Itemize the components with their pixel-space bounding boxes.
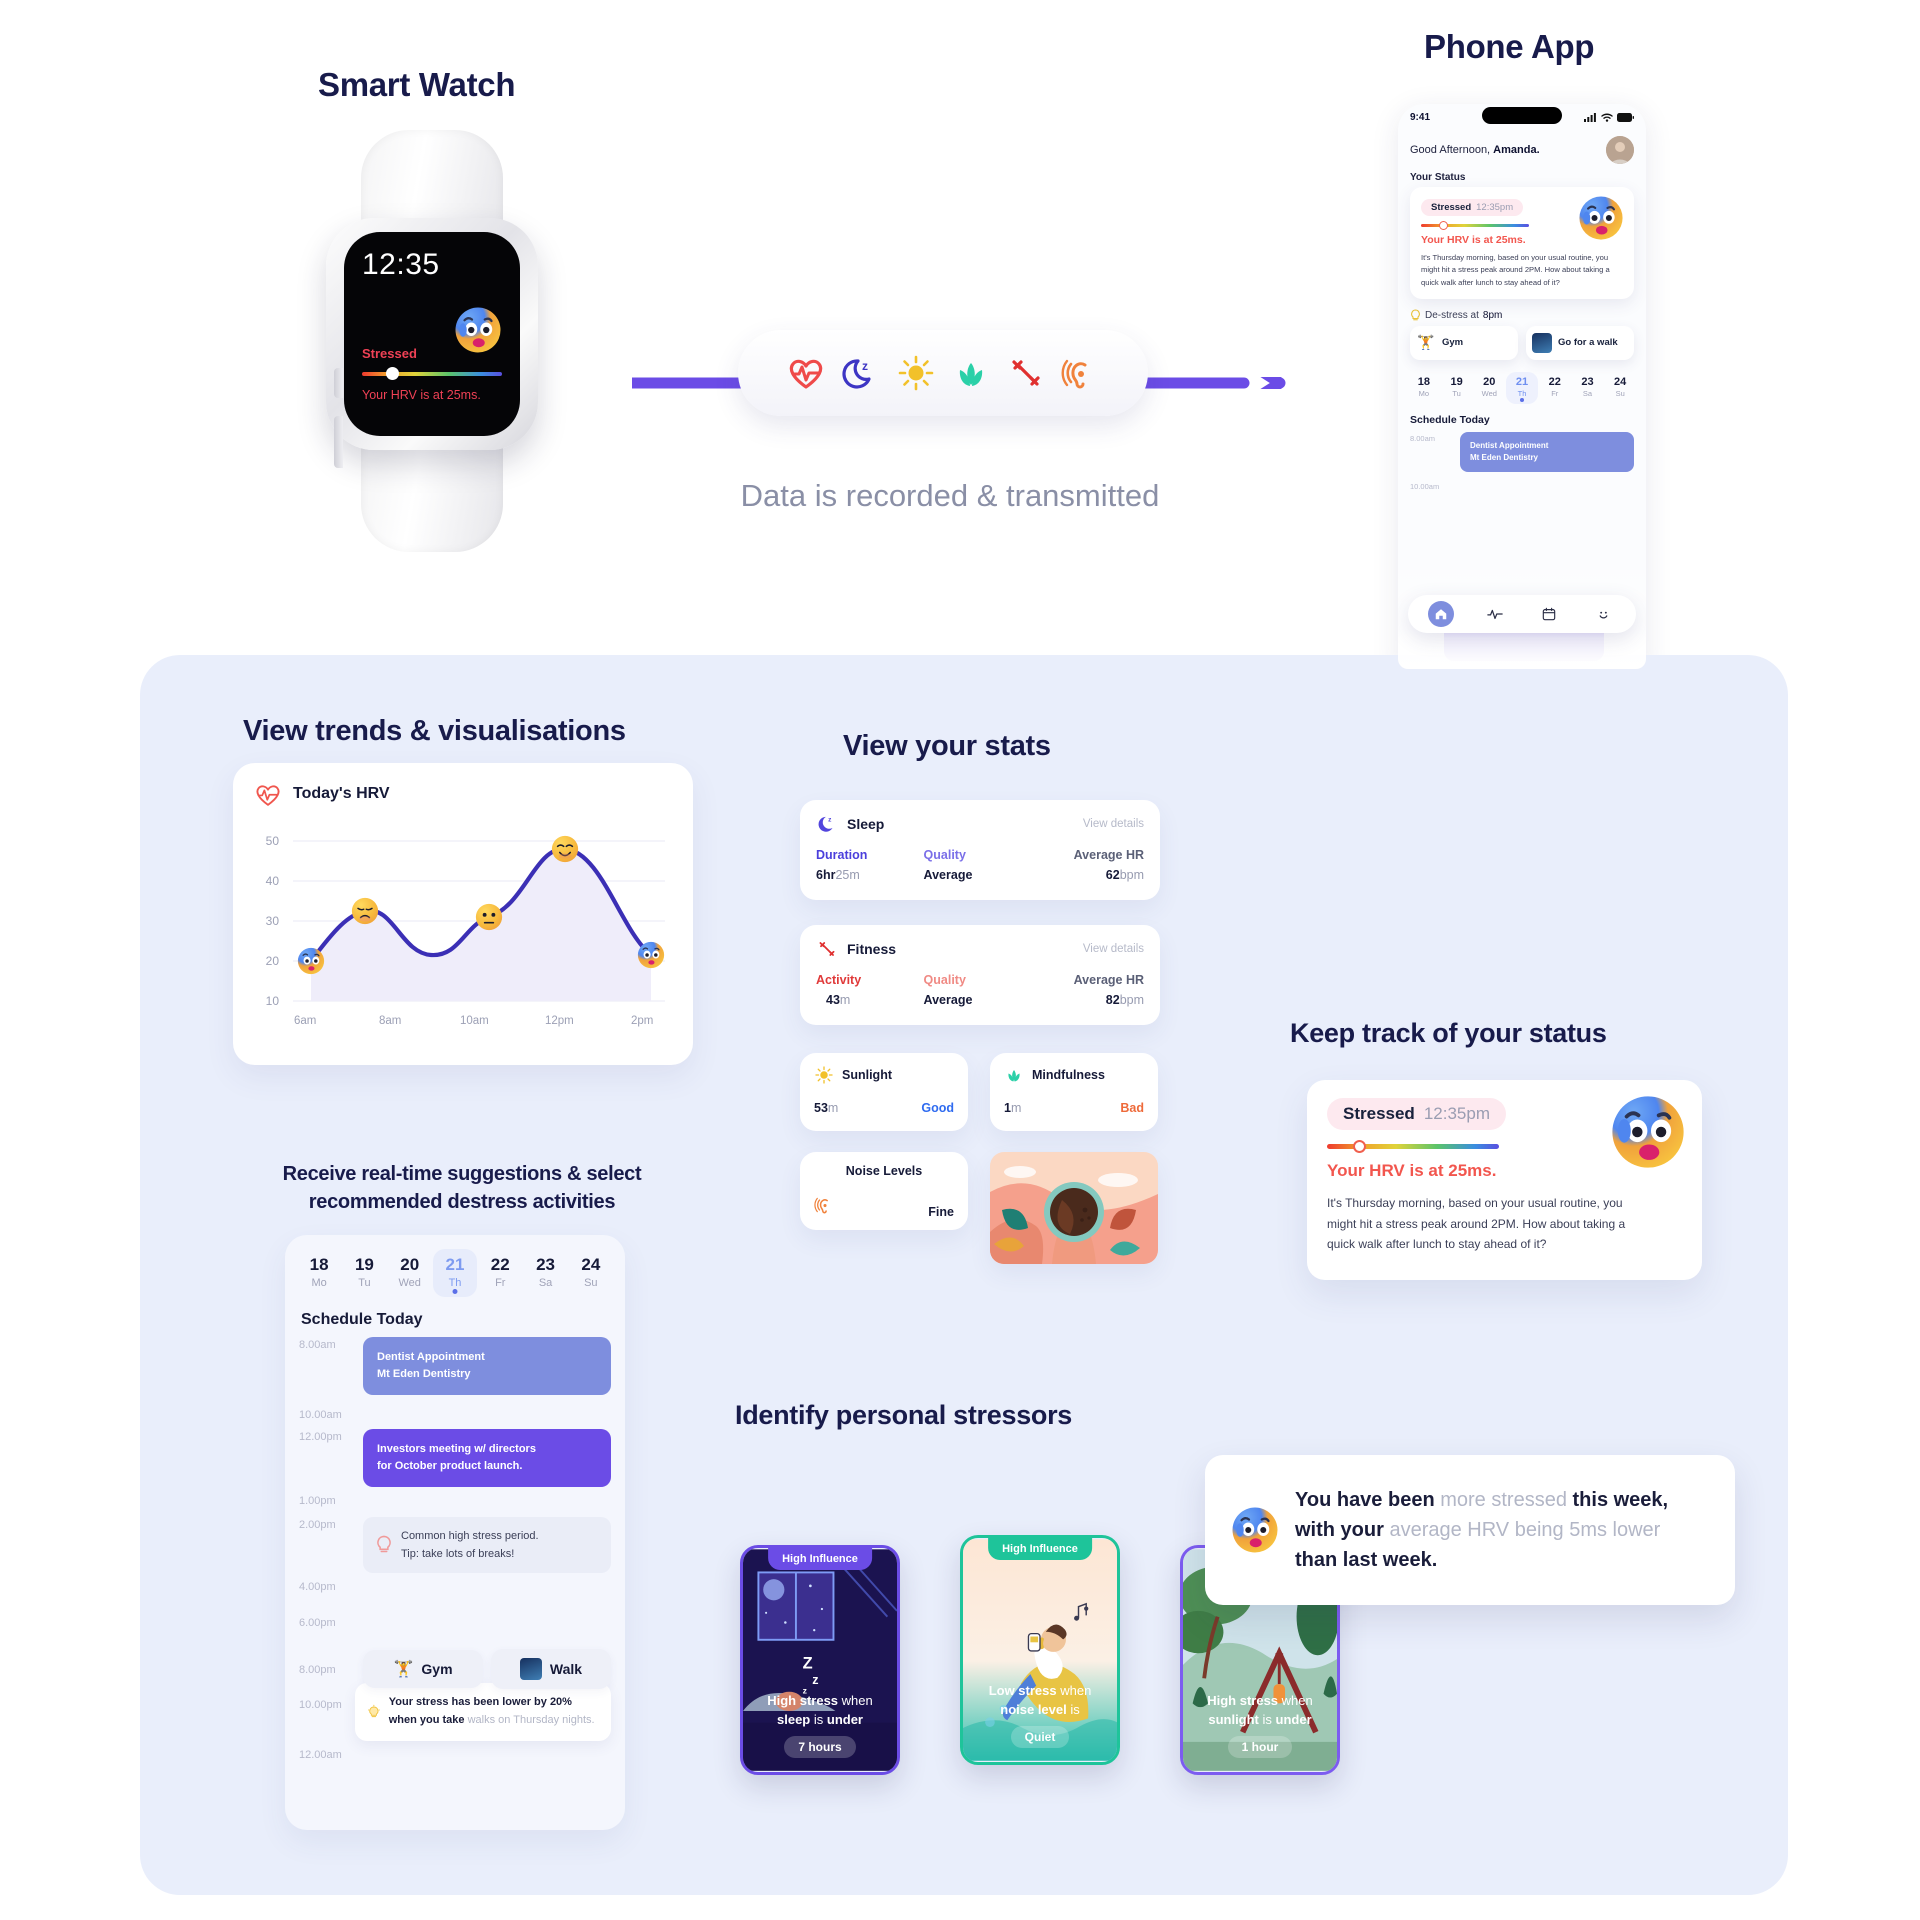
phone-event-title: Dentist Appointment [1470,440,1624,452]
day-cell-18[interactable]: 18 Mo [297,1249,341,1297]
fitness-stat-card[interactable]: Fitness View details Activity 43m Qualit… [800,925,1160,1025]
schedule-row-12am: 12.00am [285,1747,625,1761]
status-stress-knob[interactable] [1353,1140,1366,1153]
schedule-time-10am: 10.00am [299,1407,355,1421]
y-tick-10: 10 [253,994,279,1008]
schedule-row-1pm: 1.00pm [285,1493,625,1507]
svg-text:Z: Z [803,1655,813,1673]
stressor-caption-sleep: High stress when sleep is under 7 hours [743,1692,897,1758]
stressor-pill-sleep: 7 hours [784,1736,855,1758]
watch-stress-slider-track[interactable] [362,372,502,376]
day-number: 19 [342,1255,386,1275]
schedule-action-gym-label: Gym [421,1661,452,1677]
day-weekday: Fr [478,1277,522,1289]
x-tick-12pm: 12pm [545,1015,574,1027]
chart-plot-area: 50 40 30 20 10 6am 8am 10am 12pm 2pm [253,819,673,1045]
s1-rest: when [838,1693,873,1708]
day-weekday: Fr [1539,389,1571,398]
schedule-event1-sub: Mt Eden Dentistry [377,1366,597,1383]
mindfulness-name: Mindfulness [1032,1068,1105,1082]
tab-calendar[interactable] [1536,601,1562,627]
fitness-quality-col: Quality Average [924,973,1037,1007]
sleep-duration-key: Duration [816,848,924,862]
y-tick-30: 30 [253,914,279,928]
sleep-duration-unit: 25m [835,868,859,882]
day-cell-21[interactable]: 21 Th [1506,372,1538,404]
day-number: 21 [1506,376,1538,388]
mindfulness-leaf-icon [948,350,994,396]
mindfulness-amount: 1m [1004,1101,1021,1115]
sleep-hr-key: Average HR [1036,848,1144,862]
phone-mood: Stressed [1431,202,1471,213]
smart-watch-title: Smart Watch [318,66,515,104]
day-cell-20[interactable]: 20 Wed [388,1249,432,1297]
schedule-time-8pm: 8.00pm [299,1662,355,1676]
fitness-hr-key: Average HR [1036,973,1144,987]
day-number: 23 [1572,376,1604,388]
schedule-action-gym[interactable]: 🏋️ Gym [363,1650,483,1688]
day-weekday: Sa [523,1277,567,1289]
sleep-card-name: Sleep [847,816,884,832]
stressor-caption-sunlight: High stress when sunlight is under 1 hou… [1183,1692,1337,1758]
destress-time: 8pm [1483,310,1502,321]
sleep-quality-text: Average [924,868,973,882]
weekly-insight-tooltip: You have been more stressed this week, w… [1205,1455,1735,1605]
mindfulness-leaf-icon [1004,1065,1024,1085]
status-mood-time: 12:35pm [1424,1104,1490,1124]
smiley-icon [1596,607,1611,622]
day-weekday: Su [569,1277,613,1289]
day-cell-20[interactable]: 20 Wed [1473,372,1505,404]
schedule-note-text: Your stress has been lower by 20% when y… [389,1694,598,1729]
day-cell-21[interactable]: 21 Th [433,1249,477,1297]
sleep-card-cols: Duration 6hr25m Quality Average Average … [816,848,1144,882]
y-tick-20: 20 [253,954,279,968]
activity-pulse-icon [1487,607,1503,621]
phone-mood-chip: Stressed 12:35pm [1421,199,1523,216]
s1-bold: High stress [767,1693,838,1708]
home-icon [1434,607,1448,621]
day-active-dot [452,1289,457,1294]
sunlight-values: 53m Good [814,1101,954,1115]
y-tick-40: 40 [253,874,279,888]
y-tick-50: 50 [253,834,279,848]
sunlight-num: 53 [814,1101,828,1115]
phone-schedule-time: 8.00am [1410,432,1452,443]
s1-2b: is [810,1712,827,1727]
ear-noise-icon [1058,350,1104,396]
schedule-row-10am: 10.00am [285,1407,625,1421]
your-status-label: Your Status [1398,164,1646,187]
city-night-thumb [520,1658,542,1680]
x-tick-2pm: 2pm [631,1015,653,1027]
fitness-dumbbell-icon [1003,350,1049,396]
heart-rate-icon [783,350,829,396]
sleep-card-header: z Sleep View details [816,813,1144,835]
sensor-icon-pill: z [738,330,1148,416]
insight-text: You have been more stressed this week, w… [1295,1485,1701,1575]
insight-d: average HRV being 5ms lower [1389,1519,1660,1541]
day-weekday: Tu [342,1277,386,1289]
watch-time: 12:35 [362,248,502,282]
s2-2a: noise level [1000,1702,1066,1717]
stressor-line2-sunlight: sunlight is under [1183,1711,1337,1729]
schedule-time-4pm: 4.00pm [299,1579,355,1593]
stressor-line1-noise: Low stress when [963,1682,1117,1700]
phone-status-bar: 9:41 [1398,104,1646,130]
fitness-card-name: Fitness [847,941,896,957]
mindfulness-quality: Bad [1120,1101,1144,1115]
day-number: 21 [433,1255,477,1275]
phone-destress-row: De-stress at 8pm [1398,299,1646,326]
lightbulb-icon [368,1700,380,1724]
schedule-tip-line1: Common high stress period. [401,1527,539,1545]
sunlight-quality: Good [921,1101,954,1115]
schedule-time-6pm: 6.00pm [299,1615,355,1629]
day-number: 20 [388,1255,432,1275]
greeting-name: Amanda. [1493,144,1539,156]
x-tick-6am: 6am [294,1015,316,1027]
tab-activity[interactable] [1482,601,1508,627]
stressor-card-sleep[interactable]: Z z z High Influence High stress when sl… [740,1545,900,1775]
schedule-insight-note[interactable]: Your stress has been lower by 20% when y… [355,1683,611,1740]
schedule-time-12pm: 12.00pm [299,1429,355,1443]
sleep-duration-value: 6hr25m [816,868,924,882]
noise-values: Fine [814,1194,954,1219]
x-tick-8am: 8am [379,1015,401,1027]
phone-status-body: It's Thursday morning, based on your usu… [1421,252,1623,289]
schedule-row-4pm: 4.00pm [285,1579,625,1593]
phone-event-dentist[interactable]: Dentist Appointment Mt Eden Dentistry [1460,432,1634,472]
s3-2a: sunlight [1208,1712,1259,1727]
cellular-icon [1584,113,1597,122]
ear-noise-icon [814,1194,836,1216]
smart-watch: 12:35 Stressed Your HRV is at 25ms. [312,130,552,550]
fitness-dumbbell-icon [816,938,838,960]
insight-a: You have been [1295,1489,1440,1511]
phone-activity-walk-label: Go for a walk [1558,337,1618,348]
schedule-time-8am: 8.00am [299,1337,355,1351]
noise-quality: Fine [928,1205,954,1219]
schedule-row-8pm: 8.00pm 🏋️ Gym Walk [285,1649,625,1689]
phone-mood-time: 12:35pm [1476,202,1513,213]
fitness-card-cols: Activity 43m Quality Average Average HR … [816,973,1144,1007]
stressor-badge-noise: High Influence [988,1538,1092,1560]
schedule-time-2pm: 2.00pm [299,1517,355,1531]
sun-icon [893,350,939,396]
status-mood: Stressed [1343,1104,1415,1124]
sleep-quality-col: Quality Average [924,848,1037,882]
tab-mood[interactable] [1590,601,1616,627]
schedule-stress-tip[interactable]: Common high stress period. Tip: take lot… [363,1517,611,1573]
stressor-line1-sleep: High stress when [743,1692,897,1710]
day-cell-18[interactable]: 18 Mo [1408,372,1440,404]
day-number: 24 [569,1255,613,1275]
schedule-row-6pm: 6.00pm [285,1615,625,1629]
fitness-quality-key: Quality [924,973,1037,987]
anxious-face-icon [1610,1094,1686,1170]
city-night-thumb [1532,333,1552,353]
note-part-e: Thursday nights. [513,1714,594,1726]
sleep-moon-icon: z [838,350,884,396]
phone-schedule-label: Schedule Today [1398,406,1646,432]
day-number: 20 [1473,376,1505,388]
day-cell-23[interactable]: 23 Sa [523,1249,567,1297]
phone-schedule-row: 8.00am Dentist Appointment Mt Eden Denti… [1398,432,1646,472]
suggestions-title: Receive real-time suggestions & select r… [238,1160,686,1217]
noise-header: Noise Levels [814,1164,954,1178]
status-detail-card[interactable]: Stressed 12:35pm Your HRV is at 25ms. It… [1307,1080,1702,1280]
chart-header: Today's HRV [253,781,673,807]
sleep-quality-key: Quality [924,848,1037,862]
schedule-event1-title: Dentist Appointment [377,1349,597,1366]
noise-stat-card[interactable]: Noise Levels Fine [800,1152,968,1230]
schedule-time-1pm: 1.00pm [299,1493,355,1507]
phone-activity-walk[interactable]: Go for a walk [1526,326,1634,360]
day-number: 22 [478,1255,522,1275]
sunlight-header: Sunlight [814,1065,954,1085]
schedule-row-2pm: 2.00pm Common high stress period. Tip: t… [285,1517,625,1573]
phone-tab-bar [1408,595,1636,633]
chart-marker-sad-7am[interactable] [351,897,379,925]
mindfulness-stat-card[interactable]: Mindfulness 1m Bad [990,1053,1158,1131]
schedule-tip-text: Common high stress period. Tip: take lot… [401,1527,539,1563]
sleep-view-details[interactable]: View details [1083,818,1144,830]
stressor-line2-noise: noise level is [963,1701,1117,1719]
day-cell-23[interactable]: 23 Sa [1572,372,1604,404]
day-number: 23 [523,1255,567,1275]
day-number: 19 [1441,376,1473,388]
watch-crown[interactable] [334,368,343,398]
chart-marker-anxious-6am[interactable] [297,947,325,975]
anxious-face-icon [1578,195,1624,241]
s1-2c: under [827,1712,863,1727]
insight-b: more stressed [1440,1489,1567,1511]
s2-bold: Low stress [989,1683,1057,1698]
day-weekday: Mo [297,1277,341,1289]
anxious-face-icon [1231,1506,1279,1554]
schedule-action-walk[interactable]: Walk [491,1649,611,1689]
wifi-icon [1601,113,1613,122]
phone-greeting-row: Good Afternoon, Amanda. [1398,130,1646,164]
stressor-caption-noise: Low stress when noise level is Quiet [963,1682,1117,1748]
heart-rate-icon [253,781,283,807]
mindfulness-header: Mindfulness [1004,1065,1144,1085]
note-part-b: 20% [550,1696,572,1708]
day-cell-19[interactable]: 19 Tu [342,1249,386,1297]
fitness-hr-col: Average HR 82bpm [1036,973,1144,1007]
fitness-card-header: Fitness View details [816,938,1144,960]
day-cell-22[interactable]: 22 Fr [478,1249,522,1297]
stressor-card-noise[interactable]: High Influence Low stress when noise lev… [960,1535,1120,1765]
avatar[interactable] [1606,136,1634,164]
phone-app-mockup: 9:41 Good Afternoon, Amanda. Your Status… [1398,104,1646,669]
coffee-cup-illustration [990,1152,1158,1264]
sunlight-amount: 53m [814,1101,838,1115]
watch-stress-slider-knob[interactable] [386,367,399,380]
schedule-event-investors[interactable]: Investors meeting w/ directors for Octob… [363,1429,611,1487]
insight-e: than last week. [1295,1549,1437,1571]
fitness-activity-key: Activity [816,973,924,987]
fitness-activity-col: Activity 43m [816,973,924,1007]
note-part-a: Your stress has been lower by [389,1696,547,1708]
watch-screen[interactable]: 12:35 Stressed Your HRV is at 25ms. [344,232,520,436]
day-cell-22[interactable]: 22 Fr [1539,372,1571,404]
phone-event-sub: Mt Eden Dentistry [1470,452,1624,464]
day-active-dot [1520,398,1524,402]
greeting-prefix: Good Afternoon, [1410,144,1493,156]
day-weekday: Th [1506,389,1538,398]
sleep-hr-unit: bpm [1120,868,1144,882]
phone-app-title: Phone App [1424,28,1594,66]
x-tick-10am: 10am [460,1015,489,1027]
day-cell-24[interactable]: 24 Su [1604,372,1636,404]
status-bar-indicators [1584,113,1634,122]
sleep-hr-col: Average HR 62bpm [1036,848,1144,882]
fitness-quality-value: Average [924,993,1037,1007]
chart-marker-anxious-2pm[interactable] [637,941,665,969]
schedule-panel-title: Schedule Today [285,1297,625,1337]
fitness-activity-num: 43 [826,993,840,1007]
schedule-event-dentist[interactable]: Dentist Appointment Mt Eden Dentistry [363,1337,611,1395]
chart-svg [253,819,673,1045]
transmit-caption: Data is recorded & transmitted [690,478,1210,514]
phone-stress-knob[interactable] [1439,221,1448,230]
fitness-hr-num: 82 [1106,993,1120,1007]
chart-marker-happy-12pm[interactable] [551,835,579,863]
stressor-pill-sunlight: 1 hour [1228,1736,1293,1758]
noise-name: Noise Levels [846,1164,922,1178]
phone-activity-row: 🏋️ Gym Go for a walk [1398,326,1646,360]
mindfulness-num: 1 [1004,1101,1011,1115]
view-trends-title: View trends & visualisations [243,715,626,748]
fitness-activity-value: 43m [816,993,924,1007]
destress-prefix: De-stress at [1425,310,1479,321]
schedule-event2-title: Investors meeting w/ directors [377,1441,597,1458]
day-cell-19[interactable]: 19 Tu [1441,372,1473,404]
phone-activity-gym-label: Gym [1442,337,1463,348]
day-number: 24 [1604,376,1636,388]
s1-2a: sleep [777,1712,810,1727]
stressor-badge-sleep: High Influence [768,1548,872,1570]
lightbulb-icon [1410,309,1421,322]
phone-status-card[interactable]: Stressed 12:35pm Your HRV is at 25ms. It… [1410,187,1634,299]
coffee-illustration-card [990,1152,1158,1264]
schedule-time-10pm: 10.00pm [299,1697,355,1711]
watch-hrv-text: Your HRV is at 25ms. [362,388,481,402]
mindfulness-values: 1m Bad [1004,1101,1144,1115]
chart-marker-neutral-10am[interactable] [475,903,503,931]
view-stats-title: View your stats [843,730,1051,763]
fitness-view-details[interactable]: View details [1083,943,1144,955]
stressor-line1-sunlight: High stress when [1183,1692,1337,1710]
mindfulness-unit: m [1011,1101,1021,1115]
schedule-panel: 18 Mo 19 Tu 20 Wed 21 Th 22 Fr 23 Sa [285,1235,625,1830]
sleep-hr-value: 62bpm [1036,868,1144,882]
schedule-row-12pm: 12.00pm Investors meeting w/ directors f… [285,1429,625,1487]
day-weekday: Th [433,1277,477,1289]
sun-icon [814,1065,834,1085]
weightlifter-icon: 🏋️ [393,1659,413,1679]
status-bar-time: 9:41 [1410,112,1430,123]
hrv-chart-card: Today's HRV 50 40 30 20 10 6am 8am 10am … [233,763,693,1065]
battery-icon [1617,113,1634,122]
note-part-d: walks on [468,1714,511,1726]
s3-2c: under [1276,1712,1312,1727]
schedule-action-walk-label: Walk [550,1661,582,1677]
sunlight-stat-card[interactable]: Sunlight 53m Good [800,1053,968,1131]
day-number: 18 [1408,376,1440,388]
s3-2b: is [1259,1712,1276,1727]
fitness-hr-unit: bpm [1120,993,1144,1007]
schedule-tip-line2: Tip: take lots of breaks! [401,1545,539,1563]
chart-title: Today's HRV [293,785,390,803]
sleep-quality-value: Average [924,868,1037,882]
phone-notch [1482,107,1562,124]
fitness-quality-text: Average [924,993,973,1007]
keep-track-title: Keep track of your status [1290,1018,1607,1049]
schedule-time-12am: 12.00am [299,1747,355,1761]
status-body-text: It's Thursday morning, based on your usu… [1327,1193,1627,1255]
schedule-day-strip: 18 Mo 19 Tu 20 Wed 21 Th 22 Fr 23 Sa [285,1249,625,1297]
sleep-stat-card[interactable]: z Sleep View details Duration 6hr25m Qua… [800,800,1160,900]
anxious-face-icon [454,306,502,354]
status-stress-slider[interactable] [1327,1144,1499,1149]
phone-schedule-row: 10.00am [1398,480,1646,491]
day-weekday: Sa [1572,389,1604,398]
day-number: 22 [1539,376,1571,388]
day-weekday: Wed [388,1277,432,1289]
day-number: 18 [297,1255,341,1275]
sleep-duration-col: Duration 6hr25m [816,848,924,882]
note-part-c: when you take [389,1714,465,1726]
phone-greeting: Good Afternoon, Amanda. [1410,144,1540,156]
day-weekday: Mo [1408,389,1440,398]
sunlight-unit: m [828,1101,838,1115]
tab-home[interactable] [1428,601,1454,627]
lightbulb-icon [375,1535,393,1555]
s2-2b: is [1067,1702,1080,1717]
day-weekday: Su [1604,389,1636,398]
phone-stress-slider[interactable] [1421,224,1529,227]
schedule-event2-sub: for October product launch. [377,1458,597,1475]
svg-text:z: z [812,1673,818,1687]
s3-rest: when [1278,1693,1313,1708]
fitness-activity-unit: m [840,993,850,1007]
svg-text:z: z [828,816,832,823]
day-cell-24[interactable]: 24 Su [569,1249,613,1297]
stressors-title: Identify personal stressors [735,1400,1072,1431]
schedule-row-8am: 8.00am Dentist Appointment Mt Eden Denti… [285,1337,625,1395]
stressor-line2-sleep: sleep is under [743,1711,897,1729]
status-mood-chip: Stressed 12:35pm [1327,1098,1506,1130]
fitness-hr-value: 82bpm [1036,993,1144,1007]
phone-activity-gym[interactable]: 🏋️ Gym [1410,326,1518,360]
sleep-moon-icon: z [816,813,838,835]
phone-day-strip: 18 Mo 19 Tu 20 Wed 21 Th 22 Fr 23 Sa [1398,360,1646,406]
sleep-duration-num: 6hr [816,868,835,882]
day-weekday: Wed [1473,389,1505,398]
day-weekday: Tu [1441,389,1473,398]
watch-side-button[interactable] [334,416,343,468]
sleep-hr-num: 62 [1106,868,1120,882]
watch-status-label: Stressed [362,346,417,361]
s2-rest: when [1057,1683,1092,1698]
s3-bold: High stress [1207,1693,1278,1708]
sunlight-name: Sunlight [842,1068,892,1082]
weightlifter-icon: 🏋️ [1416,333,1436,353]
stressor-pill-noise: Quiet [1011,1726,1070,1748]
